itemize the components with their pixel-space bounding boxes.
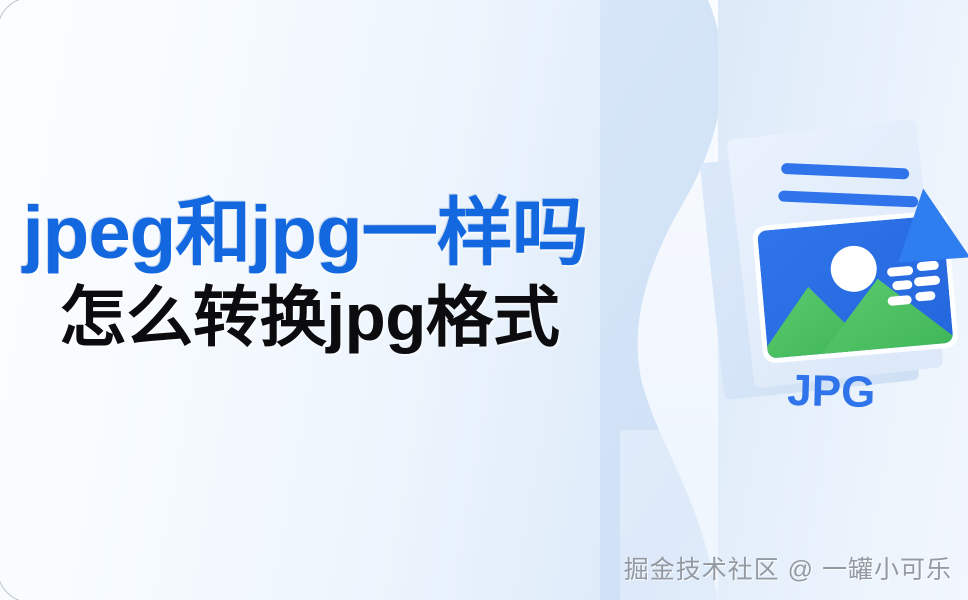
headline-primary: jpeg和jpg一样吗 [0,196,700,270]
headline-secondary: 怎么转换jpg格式 [0,284,694,350]
poster-canvas: JPG jpeg和jpg一样吗 怎么转换jpg格式 掘金技术社区 @ 一罐小可乐 [0,0,968,600]
jpg-file-illustration: JPG [700,110,968,430]
headline-block: jpeg和jpg一样吗 怎么转换jpg格式 [0,196,680,350]
jpg-file-illustration-svg: JPG [700,110,968,430]
watermark-credit: 掘金技术社区 @ 一罐小可乐 [624,550,952,586]
jpg-label: JPG [787,366,876,417]
